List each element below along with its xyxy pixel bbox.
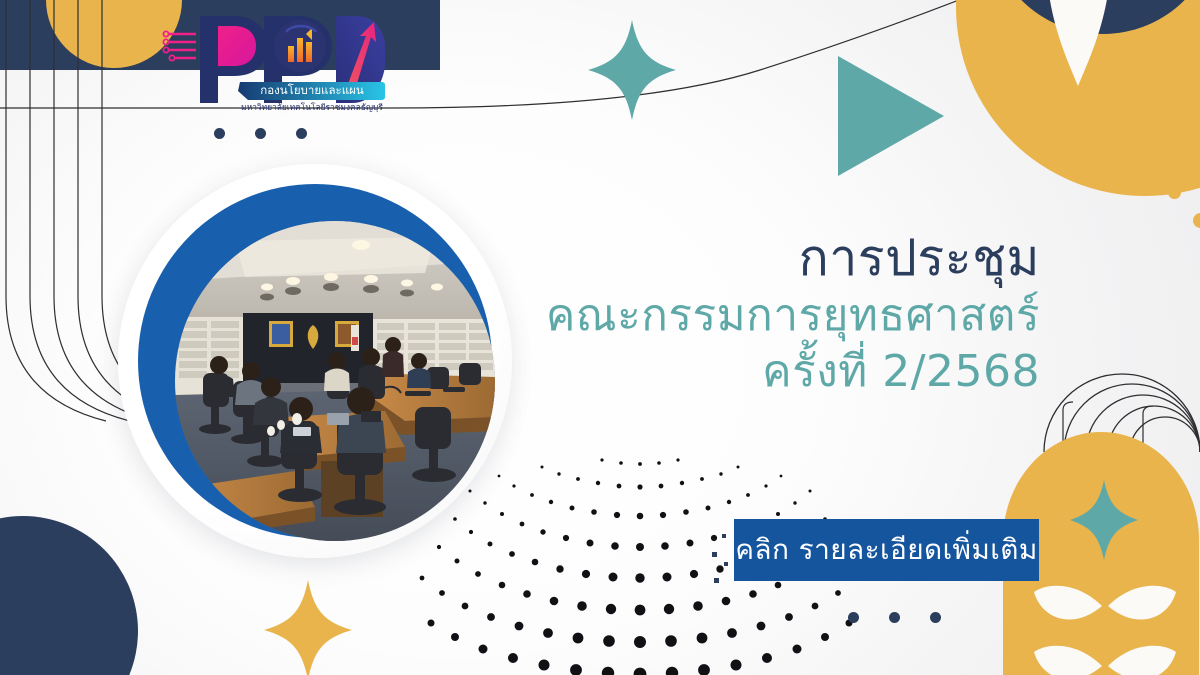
decor-dot (848, 612, 859, 623)
decor-dot (214, 128, 225, 139)
meeting-photo[interactable] (175, 221, 495, 541)
dot-row-under-logo (214, 128, 307, 139)
decor-dot (930, 612, 941, 623)
dot-row-under-button (848, 612, 941, 623)
teal-triangle-icon (836, 54, 946, 178)
accent-square (722, 534, 726, 538)
poster-canvas: กองนโยบายและแผน มหาวิทยาลัยเทคโนโลยีราชม… (0, 0, 1200, 675)
gold-star-icon (262, 578, 354, 675)
gold-dot-decor (1193, 213, 1200, 228)
ppd-logo[interactable]: กองนโยบายและแผน มหาวิทยาลัยเทคโนโลยีราชม… (160, 8, 385, 113)
logo-org-line-2: มหาวิทยาลัยเทคโนโลยีราชมงคลธัญบุรี (241, 102, 383, 113)
more-details-button[interactable]: คลิก รายละเอียดเพิ่มเติม (734, 519, 1039, 581)
logo-org-line-1: กองนโยบายและแผน (260, 83, 364, 97)
headline-line-1: การประชุม (470, 228, 1040, 288)
white-leaves-decor (1020, 548, 1190, 675)
gold-dot-decor (1168, 186, 1181, 199)
headline-line-2: คณะกรรมการยุทธศาสตร์ (470, 288, 1040, 344)
accent-square (724, 562, 728, 566)
accent-square (714, 578, 719, 583)
headline-line-3: ครั้งที่ 2/2568 (470, 344, 1040, 400)
navy-circle-bottom-left-decor (0, 516, 138, 675)
photo-blue-ring (138, 184, 492, 538)
decor-dot (889, 612, 900, 623)
decor-dot (296, 128, 307, 139)
photo-circle-frame (118, 164, 512, 558)
ppd-logo-svg: กองนโยบายและแผน มหาวิทยาลัยเทคโนโลยีราชม… (160, 8, 385, 113)
headline-block: การประชุม คณะกรรมการยุทธศาสตร์ ครั้งที่ … (470, 228, 1040, 401)
accent-square (712, 552, 717, 557)
decor-dot (255, 128, 266, 139)
meeting-photo-illustration (175, 221, 495, 541)
teal-star-icon (586, 18, 678, 122)
